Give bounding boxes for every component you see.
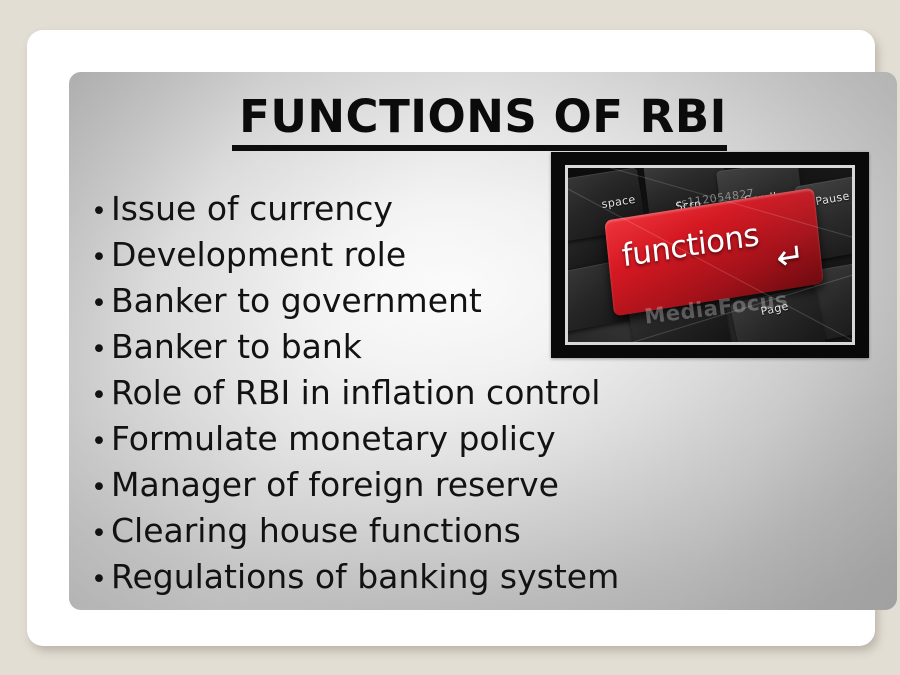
bullet-icon: • bbox=[91, 281, 111, 327]
bullet-icon: • bbox=[91, 419, 111, 465]
page-title: FUNCTIONS OF RBI bbox=[69, 90, 897, 143]
list-item-label: Role of RBI in inflation control bbox=[111, 370, 600, 416]
slide-content-panel: FUNCTIONS OF RBI • Issue of currency • D… bbox=[69, 72, 897, 610]
bullet-icon: • bbox=[91, 235, 111, 281]
list-item-label: Manager of foreign reserve bbox=[111, 462, 559, 508]
list-item-label: Banker to government bbox=[111, 278, 482, 324]
list-item-label: Development role bbox=[111, 232, 406, 278]
bullet-icon: • bbox=[91, 511, 111, 557]
list-item-label: Formulate monetary policy bbox=[111, 416, 556, 462]
list-item: • Manager of foreign reserve bbox=[91, 462, 731, 508]
list-item: • Clearing house functions bbox=[91, 508, 731, 554]
list-item-label: Banker to bank bbox=[111, 324, 362, 370]
keyboard-key-label: Pause bbox=[815, 189, 851, 208]
list-item-label: Regulations of banking system bbox=[111, 554, 619, 600]
bullet-icon: • bbox=[91, 327, 111, 373]
slide-card: FUNCTIONS OF RBI • Issue of currency • D… bbox=[27, 30, 875, 646]
slide-stage: FUNCTIONS OF RBI • Issue of currency • D… bbox=[0, 0, 900, 675]
bullet-icon: • bbox=[91, 373, 111, 419]
list-item-label: Issue of currency bbox=[111, 186, 393, 232]
list-item: • Formulate monetary policy bbox=[91, 416, 731, 462]
keyboard-photo-frame: space Scrn Scroll Lock Pause bbox=[551, 152, 869, 358]
list-item: • Role of RBI in inflation control bbox=[91, 370, 731, 416]
photo-inner-border: space Scrn Scroll Lock Pause bbox=[565, 165, 855, 345]
enter-arrow-icon: ↵ bbox=[775, 238, 807, 276]
list-item: • Regulations of banking system bbox=[91, 554, 731, 600]
bullet-icon: • bbox=[91, 465, 111, 511]
bullet-icon: • bbox=[91, 189, 111, 235]
title-underline bbox=[232, 145, 727, 151]
keyboard-photo: space Scrn Scroll Lock Pause bbox=[568, 168, 852, 342]
list-item-label: Clearing house functions bbox=[111, 508, 521, 554]
keyboard-key-label: functions bbox=[620, 217, 760, 274]
bullet-icon: • bbox=[91, 557, 111, 603]
